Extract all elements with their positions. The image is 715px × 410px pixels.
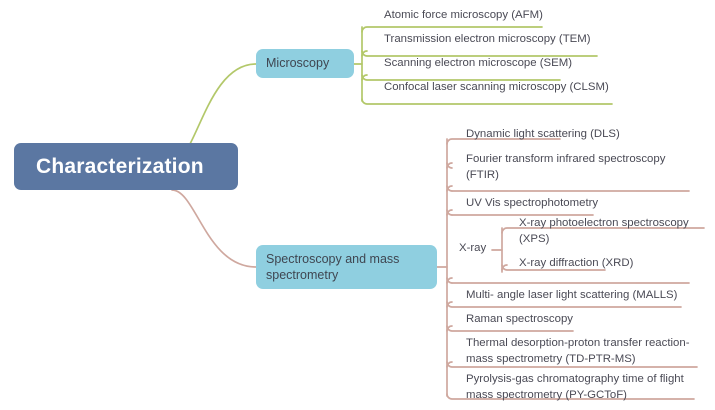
leaf-pygctof[interactable]: Pyrolysis-gas chromatography time of fli… xyxy=(466,372,684,403)
branch-label-spectroscopy: Spectroscopy and mass spectrometry xyxy=(266,251,427,284)
root-label: Characterization xyxy=(36,155,204,179)
leaf-xray[interactable]: X-ray xyxy=(459,241,486,257)
leaf-uvvis[interactable]: UV Vis spectrophotometry xyxy=(466,196,598,212)
leaf-tem[interactable]: Transmission electron microscopy (TEM) xyxy=(384,32,591,48)
leaf-malls[interactable]: Multi- angle laser light scattering (MAL… xyxy=(466,288,677,304)
leaf-xps[interactable]: X-ray photoelectron spectroscopy (XPS) xyxy=(519,216,689,247)
leaf-tdptrms[interactable]: Thermal desorption-proton transfer react… xyxy=(466,336,690,367)
leaf-dls[interactable]: Dynamic light scattering (DLS) xyxy=(466,127,620,143)
connector-root-spectroscopy xyxy=(172,190,256,267)
branch-node-microscopy[interactable]: Microscopy xyxy=(256,49,354,78)
mind-map-canvas: Characterization Microscopy Spectroscopy… xyxy=(0,0,715,410)
leaf-clsm[interactable]: Confocal laser scanning microscopy (CLSM… xyxy=(384,80,609,96)
branch-node-spectroscopy[interactable]: Spectroscopy and mass spectrometry xyxy=(256,245,437,289)
leaf-xrd[interactable]: X-ray diffraction (XRD) xyxy=(519,256,633,272)
root-node[interactable]: Characterization xyxy=(14,143,238,190)
leaf-sem[interactable]: Scanning electron microscope (SEM) xyxy=(384,56,572,72)
leaf-afm[interactable]: Atomic force microscopy (AFM) xyxy=(384,8,543,24)
leaf-ftir[interactable]: Fourier transform infrared spectroscopy … xyxy=(466,152,665,183)
leaf-raman[interactable]: Raman spectroscopy xyxy=(466,312,573,328)
branch-label-microscopy: Microscopy xyxy=(266,55,329,72)
